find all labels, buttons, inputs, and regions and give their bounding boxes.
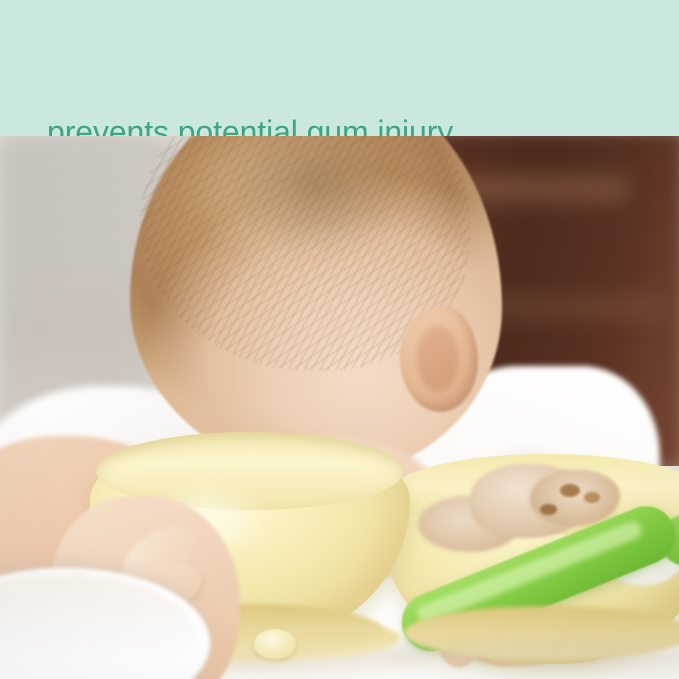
baby-ear-inner	[417, 326, 459, 392]
food-crumb-2	[584, 492, 600, 503]
banner-headline: prevents potential gum injury & protects…	[47, 30, 647, 136]
banner-headline-line-1: prevents potential gum injury	[47, 112, 647, 136]
food-crumb-1	[560, 484, 580, 497]
product-feature-image: prevents potential gum injury & protects…	[0, 0, 679, 679]
lifestyle-photo	[0, 136, 679, 679]
marketing-banner: prevents potential gum injury & protects…	[0, 0, 679, 136]
food-crumb-3	[540, 504, 557, 515]
suction-base-nub	[254, 629, 296, 659]
